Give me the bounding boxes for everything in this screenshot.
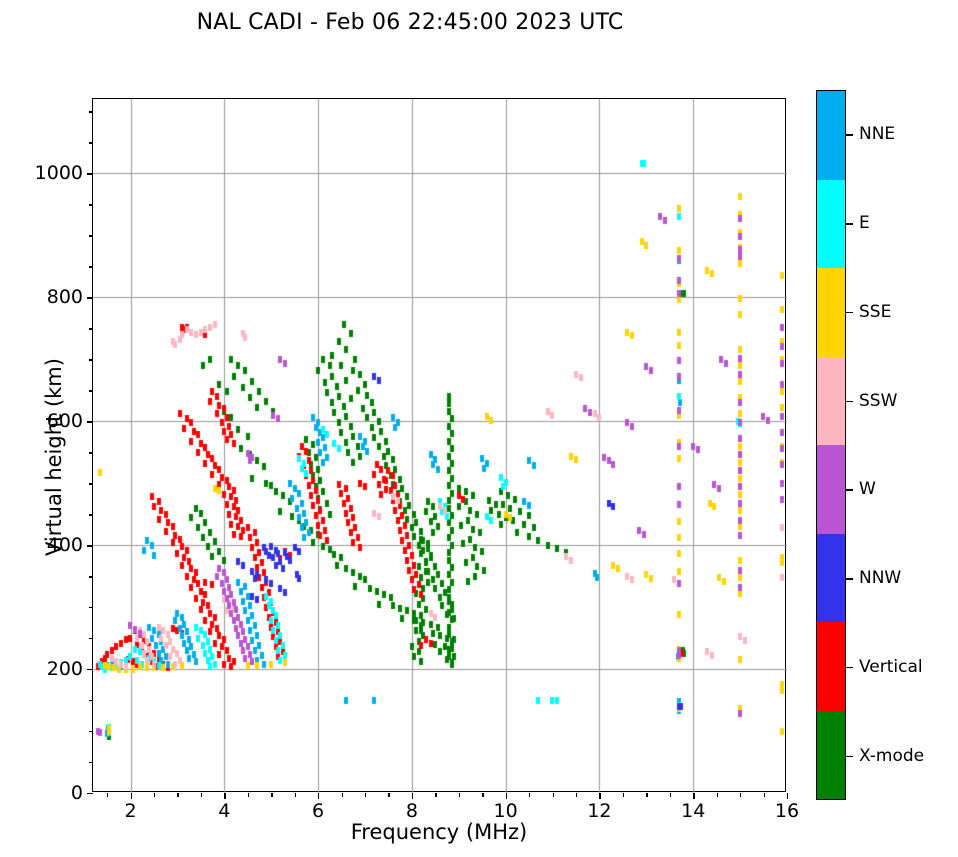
x-tick-minor <box>248 793 249 797</box>
colorbar-label-w: W <box>859 479 876 499</box>
x-tick-minor <box>271 793 272 797</box>
x-tick <box>693 793 694 799</box>
x-tick-minor <box>740 793 741 797</box>
x-tick <box>412 793 413 799</box>
colorbar-tick <box>846 489 853 490</box>
x-tick-label: 2 <box>124 800 136 822</box>
x-tick-minor <box>717 793 718 797</box>
colorbar-gradient <box>816 90 846 800</box>
y-tick-label: 1000 <box>35 162 83 184</box>
colorbar-label-e: E <box>859 213 870 233</box>
x-tick-label: 8 <box>406 800 418 822</box>
x-tick-minor <box>482 793 483 797</box>
x-tick <box>787 793 788 799</box>
colorbar: NNEESSESSWWNNWVerticalX-mode <box>816 90 846 800</box>
x-tick-minor <box>764 793 765 797</box>
y-axis-title: Virtual height (km) <box>42 307 66 607</box>
colorbar-tick <box>846 756 853 757</box>
x-tick-minor <box>553 793 554 797</box>
x-tick-minor <box>154 793 155 797</box>
x-tick-label: 14 <box>681 800 705 822</box>
y-tick <box>87 793 93 794</box>
colorbar-band-nne <box>817 91 845 180</box>
colorbar-band-vertical <box>817 622 845 711</box>
colorbar-label-x-mode: X-mode <box>859 746 924 766</box>
x-tick-minor <box>295 793 296 797</box>
x-tick-label: 12 <box>587 800 611 822</box>
x-tick <box>599 793 600 799</box>
x-tick-minor <box>529 793 530 797</box>
colorbar-tick <box>846 401 853 402</box>
x-tick-minor <box>177 793 178 797</box>
ionogram-data-layer <box>93 99 787 793</box>
x-tick-label: 16 <box>775 800 799 822</box>
colorbar-band-sse <box>817 268 845 357</box>
x-tick-minor <box>646 793 647 797</box>
colorbar-tick <box>846 223 853 224</box>
x-tick <box>131 793 132 799</box>
colorbar-tick <box>846 312 853 313</box>
y-tick-label: 800 <box>47 286 83 308</box>
x-tick-minor <box>576 793 577 797</box>
x-tick-minor <box>670 793 671 797</box>
colorbar-label-ssw: SSW <box>859 391 897 411</box>
colorbar-tick <box>846 667 853 668</box>
x-tick-minor <box>107 793 108 797</box>
x-tick-minor <box>201 793 202 797</box>
x-tick-label: 6 <box>312 800 324 822</box>
colorbar-band-x-mode <box>817 711 845 800</box>
x-axis-title: Frequency (MHz) <box>92 820 786 844</box>
x-tick <box>224 793 225 799</box>
colorbar-label-vertical: Vertical <box>859 657 923 677</box>
ionogram-page: NAL CADI - Feb 06 22:45:00 2023 UTC 0200… <box>0 0 958 857</box>
colorbar-band-w <box>817 445 845 534</box>
colorbar-band-e <box>817 180 845 269</box>
page-title: NAL CADI - Feb 06 22:45:00 2023 UTC <box>0 10 820 35</box>
x-tick-minor <box>623 793 624 797</box>
y-tick-label: 0 <box>71 782 83 804</box>
x-tick-minor <box>435 793 436 797</box>
colorbar-label-nne: NNE <box>859 124 895 144</box>
x-tick <box>318 793 319 799</box>
colorbar-band-nnw <box>817 534 845 623</box>
x-tick-label: 10 <box>494 800 518 822</box>
y-tick-label: 200 <box>47 658 83 680</box>
plot-area: 02004006008001000246810121416 <box>92 98 786 792</box>
x-tick-minor <box>388 793 389 797</box>
x-tick-minor <box>365 793 366 797</box>
colorbar-label-nnw: NNW <box>859 568 901 588</box>
x-tick-label: 4 <box>218 800 230 822</box>
x-tick-minor <box>342 793 343 797</box>
x-tick-minor <box>459 793 460 797</box>
colorbar-tick <box>846 578 853 579</box>
x-tick <box>506 793 507 799</box>
colorbar-band-ssw <box>817 357 845 446</box>
colorbar-tick <box>846 134 853 135</box>
colorbar-label-sse: SSE <box>859 302 891 322</box>
